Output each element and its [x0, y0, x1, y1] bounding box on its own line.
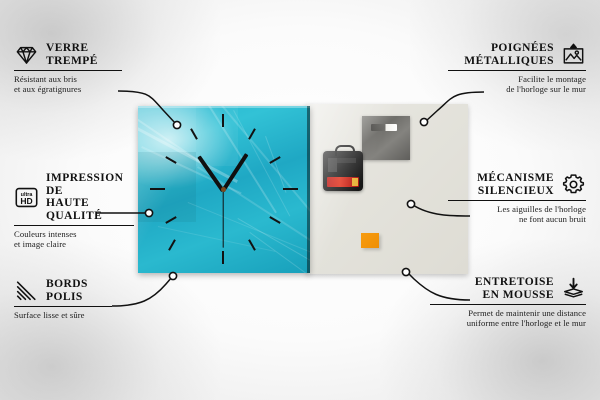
feature-entretoise-en-mousse: ENTRETOISE EN MOUSSE Permet de maintenir… — [430, 276, 586, 328]
clock-tick — [150, 188, 165, 190]
feature-title-line2: EN MOUSSE — [475, 289, 554, 302]
clock-tick — [283, 188, 298, 190]
foam-spacer-arrow-icon — [561, 276, 586, 301]
feature-subtitle-line1: Résistant aux bris — [14, 74, 122, 84]
clock-second-hand — [222, 190, 223, 248]
feature-subtitle-line1: Permet de maintenir une distance — [430, 308, 586, 318]
feature-subtitle-line1: Les aiguilles de l'horloge — [448, 204, 586, 214]
clock-face — [138, 106, 310, 273]
feature-title-line1: ENTRETOISE — [475, 276, 554, 289]
feature-underline — [448, 70, 586, 71]
diamond-icon — [14, 42, 39, 67]
clock-tick — [222, 114, 224, 127]
clock-tick — [222, 251, 224, 264]
diagonal-lines-icon — [14, 278, 39, 303]
picture-frame-hanger-icon — [561, 42, 586, 67]
feature-title-line1: IMPRESSION DE — [46, 172, 134, 197]
feature-underline — [448, 200, 586, 201]
feature-underline — [430, 304, 586, 305]
mechanism-detail — [328, 158, 356, 172]
feature-subtitle-line1: Facilite le montage — [448, 74, 586, 84]
feature-underline — [14, 306, 112, 307]
feature-title-line1: POIGNÉES — [464, 42, 554, 55]
ultra-hd-icon: ultra HD — [14, 185, 39, 210]
orange-foam-spacer — [361, 233, 379, 248]
feature-mecanisme-silencieux: MÉCANISME SILENCIEUX Les aiguilles de l'… — [448, 172, 586, 224]
feature-underline — [14, 70, 122, 71]
feature-title-line2: HAUTE QUALITÉ — [46, 197, 134, 222]
feature-title-line1: VERRE — [46, 42, 98, 55]
feature-title-line1: MÉCANISME — [477, 172, 554, 185]
feature-subtitle-line2: ne font aucun bruit — [448, 214, 586, 224]
aa-battery — [327, 177, 359, 187]
svg-text:HD: HD — [20, 196, 32, 206]
feature-bords-polis: BORDS POLIS Surface lisse et sûre — [14, 278, 112, 320]
wire-bords-polis — [112, 277, 172, 306]
feature-subtitle-line1: Surface lisse et sûre — [14, 310, 112, 320]
feature-subtitle-line2: uniforme entre l'horloge et le mur — [430, 318, 586, 328]
feature-poignees-metalliques: POIGNÉES MÉTALLIQUES Facilite le montage… — [448, 42, 586, 94]
feature-impression-haute-qualite: ultra HD IMPRESSION DE HAUTE QUALITÉ Cou… — [14, 172, 134, 250]
clock-center-pin — [221, 187, 226, 192]
feature-title-line2: SILENCIEUX — [477, 185, 554, 198]
infographic-canvas: VERRE TREMPÉ Résistant aux bris et aux é… — [0, 0, 600, 400]
feature-subtitle-line2: de l'horloge sur le mur — [448, 84, 586, 94]
feature-title-line1: BORDS — [46, 278, 88, 291]
feature-subtitle-line2: et aux égratignures — [14, 84, 122, 94]
feature-title-line2: MÉTALLIQUES — [464, 55, 554, 68]
clock-back-panel — [306, 104, 468, 274]
feature-underline — [14, 225, 134, 226]
quartz-mechanism-box — [323, 151, 363, 191]
gear-icon — [561, 172, 586, 197]
product-image — [138, 104, 468, 276]
metal-hanger-plate-icon — [362, 116, 410, 160]
hanger-slot — [371, 124, 397, 131]
feature-subtitle-line2: et image claire — [14, 239, 134, 249]
feature-verre-trempe: VERRE TREMPÉ Résistant aux bris et aux é… — [14, 42, 122, 94]
clock-tick — [248, 128, 256, 139]
mechanism-hook — [335, 145, 355, 156]
feature-title-line2: POLIS — [46, 291, 88, 304]
feature-subtitle-line1: Couleurs intenses — [14, 229, 134, 239]
glass-right-edge — [307, 106, 310, 273]
clock-tick — [168, 239, 176, 250]
feature-title-line2: TREMPÉ — [46, 55, 98, 68]
